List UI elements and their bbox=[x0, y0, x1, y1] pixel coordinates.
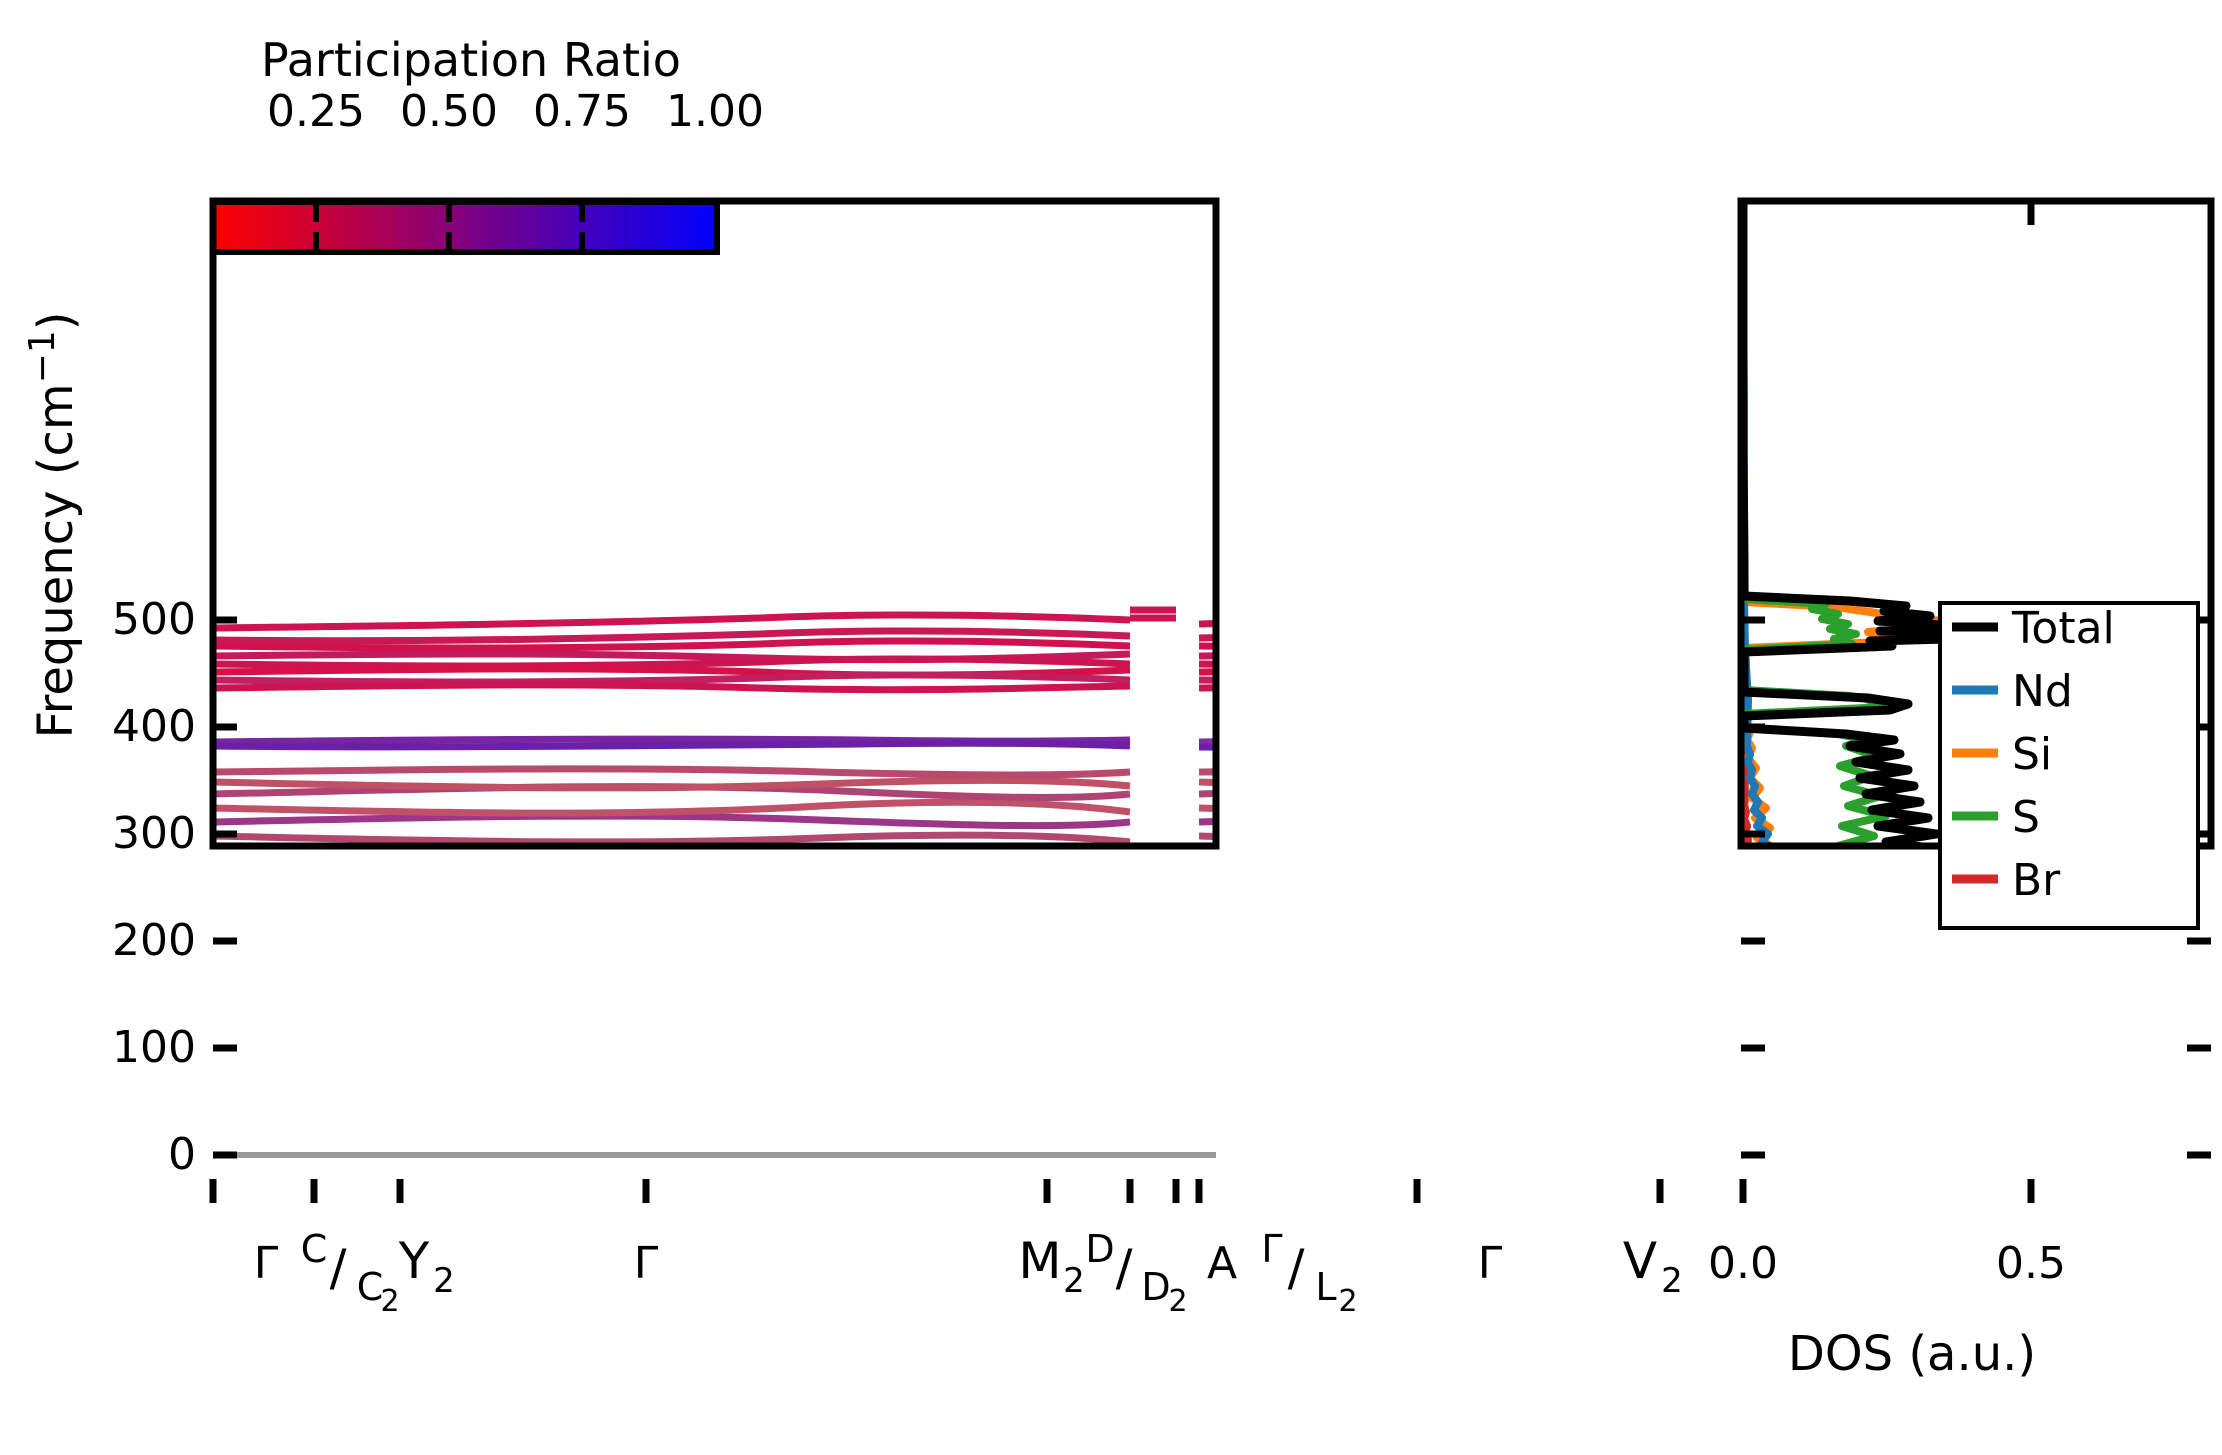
legend-label-br: Br bbox=[2012, 855, 2061, 906]
legend-label-si: Si bbox=[2012, 729, 2052, 780]
ytick-label-100: 100 bbox=[112, 1022, 196, 1073]
figure-root: Participation Ratio 0.25 0.50 0.75 1.00 … bbox=[0, 0, 2222, 1455]
xtick-label-L-den: L bbox=[1315, 1265, 1336, 1309]
xtick-label-gamma-num: Γ bbox=[1261, 1227, 1282, 1271]
xtick-label-Y: Y bbox=[398, 1232, 430, 1290]
ytick-label-0: 0 bbox=[168, 1129, 196, 1180]
colorbar-title: Participation Ratio bbox=[261, 33, 681, 87]
xtick-label-M-sub: 2 bbox=[1063, 1261, 1085, 1301]
y-axis-label-sup: −1 bbox=[22, 330, 63, 383]
legend-label-total: Total bbox=[2011, 603, 2115, 654]
legend-label-nd: Nd bbox=[2012, 666, 2073, 717]
xtick-label-gamma-3: Γ bbox=[1478, 1238, 1503, 1289]
xtick-slash-3: / bbox=[1288, 1239, 1305, 1297]
xtick-label-D-num: D bbox=[1085, 1227, 1114, 1271]
xtick-label-D-den-sub: 2 bbox=[1168, 1284, 1187, 1319]
xtick-label-Y-sub: 2 bbox=[433, 1261, 455, 1301]
xtick-slash-1: / bbox=[330, 1239, 347, 1297]
y-axis-label-main: Frequency (cm bbox=[28, 383, 84, 738]
colorbar-tick-2: 0.75 bbox=[533, 86, 631, 137]
dos-xtick-label-0: 0.0 bbox=[1708, 1238, 1778, 1289]
ytick-label-400: 400 bbox=[112, 701, 196, 752]
colorbar-tick-1: 0.50 bbox=[400, 86, 498, 137]
xtick-label-gamma-2: Γ bbox=[634, 1238, 659, 1289]
legend-label-s: S bbox=[2012, 792, 2040, 843]
y-axis-label-tail: ) bbox=[28, 312, 84, 331]
dos-legend: Total Nd Si S Br bbox=[1940, 603, 2198, 928]
xtick-label-C-den: C bbox=[357, 1265, 384, 1309]
ytick-label-300: 300 bbox=[112, 808, 196, 859]
xtick-label-gamma-1: Γ bbox=[254, 1238, 279, 1289]
xtick-label-C-num: C bbox=[301, 1227, 328, 1271]
xtick-slash-2: / bbox=[1116, 1239, 1133, 1297]
dos-xtick-label-1: 0.5 bbox=[1996, 1238, 2066, 1289]
colorbar-tick-0: 0.25 bbox=[267, 86, 365, 137]
xtick-label-A: A bbox=[1207, 1238, 1237, 1289]
colorbar-gradient bbox=[213, 202, 717, 252]
colorbar-tick-3: 1.00 bbox=[666, 86, 764, 137]
xtick-label-C-den-sub: 2 bbox=[380, 1284, 399, 1319]
xtick-label-D-den: D bbox=[1141, 1265, 1170, 1309]
xtick-label-L-den-sub: 2 bbox=[1338, 1284, 1357, 1319]
xtick-label-V-sub: 2 bbox=[1661, 1261, 1683, 1301]
ytick-label-500: 500 bbox=[112, 594, 196, 645]
ytick-label-200: 200 bbox=[112, 915, 196, 966]
dos-x-axis-label: DOS (a.u.) bbox=[1788, 1326, 2036, 1382]
xtick-label-V: V bbox=[1623, 1232, 1657, 1290]
xtick-label-M: M bbox=[1018, 1232, 1061, 1290]
figure-canvas: Participation Ratio 0.25 0.50 0.75 1.00 … bbox=[0, 0, 2222, 1455]
